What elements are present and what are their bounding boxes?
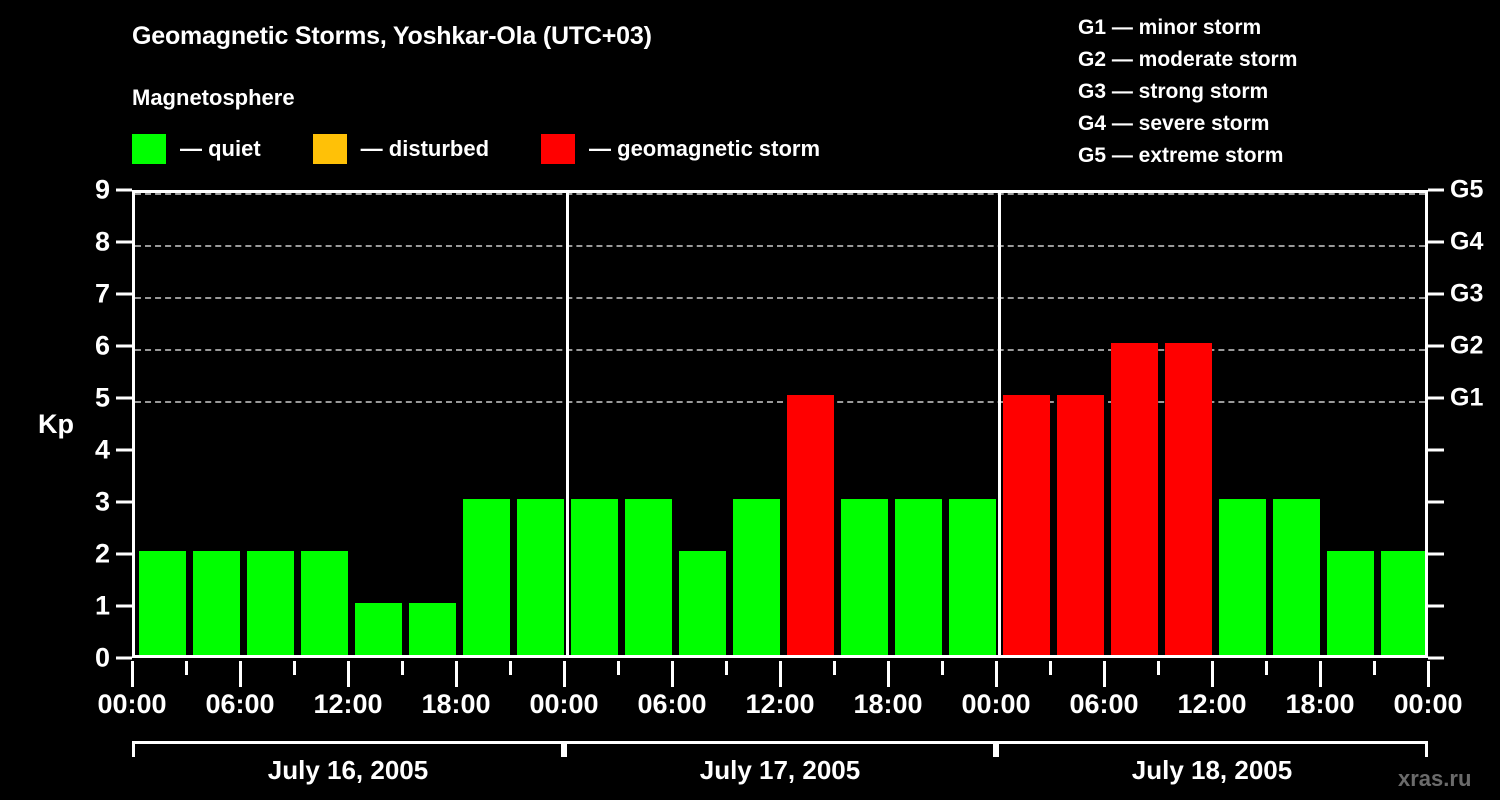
right-axis-tick bbox=[1428, 345, 1444, 348]
g-scale-line: G4 — severe storm bbox=[1078, 108, 1297, 140]
chart-subtitle: Magnetosphere bbox=[132, 85, 295, 111]
bar[interactable] bbox=[517, 499, 564, 655]
right-axis-tick bbox=[1428, 449, 1444, 452]
bar[interactable] bbox=[787, 395, 834, 655]
x-axis-minor-tick bbox=[1049, 661, 1052, 675]
x-axis-label: 00:00 bbox=[529, 689, 598, 720]
x-axis-label: 06:00 bbox=[1069, 689, 1138, 720]
y-axis-tick bbox=[116, 605, 132, 608]
x-axis-label: 00:00 bbox=[961, 689, 1030, 720]
bar[interactable] bbox=[1003, 395, 1050, 655]
y-axis-tick bbox=[116, 397, 132, 400]
right-axis-tick bbox=[1428, 293, 1444, 296]
x-axis-label: 06:00 bbox=[205, 689, 274, 720]
bar[interactable] bbox=[949, 499, 996, 655]
bar[interactable] bbox=[409, 603, 456, 655]
y-axis-tick-label: 3 bbox=[80, 487, 110, 518]
x-axis-label: 00:00 bbox=[1393, 689, 1462, 720]
y-axis-tick bbox=[116, 293, 132, 296]
x-axis-major-tick bbox=[563, 661, 566, 687]
y-axis-tick-label: 1 bbox=[80, 591, 110, 622]
bar[interactable] bbox=[139, 551, 186, 655]
y-axis-title: Kp bbox=[38, 409, 74, 440]
x-axis-minor-tick bbox=[617, 661, 620, 675]
legend-label-disturbed: — disturbed bbox=[361, 136, 489, 162]
x-axis-minor-tick bbox=[509, 661, 512, 675]
x-axis-minor-tick bbox=[185, 661, 188, 675]
date-label: July 18, 2005 bbox=[1132, 755, 1292, 786]
bar[interactable] bbox=[1111, 343, 1158, 655]
x-axis-major-tick bbox=[347, 661, 350, 687]
bar[interactable] bbox=[679, 551, 726, 655]
x-axis-major-tick bbox=[1103, 661, 1106, 687]
chart-root: Geomagnetic Storms, Yoshkar-Ola (UTC+03)… bbox=[0, 0, 1500, 800]
right-axis-tick bbox=[1428, 397, 1444, 400]
x-axis-minor-tick bbox=[1265, 661, 1268, 675]
legend-item-disturbed: — disturbed bbox=[313, 134, 489, 164]
plot-area bbox=[132, 190, 1428, 658]
bar[interactable] bbox=[1381, 551, 1426, 655]
y-axis-tick bbox=[116, 553, 132, 556]
x-axis-label: 12:00 bbox=[745, 689, 814, 720]
y-axis-tick bbox=[116, 449, 132, 452]
y-axis-tick bbox=[116, 189, 132, 192]
y-axis-tick-label: 0 bbox=[80, 643, 110, 674]
bar[interactable] bbox=[463, 499, 510, 655]
right-axis-tick bbox=[1428, 501, 1444, 504]
y-axis-tick-label: 2 bbox=[80, 539, 110, 570]
g-scale-line: G2 — moderate storm bbox=[1078, 44, 1297, 76]
y-axis-tick-label: 5 bbox=[80, 383, 110, 414]
bar[interactable] bbox=[355, 603, 402, 655]
bar[interactable] bbox=[895, 499, 942, 655]
x-axis-major-tick bbox=[1319, 661, 1322, 687]
legend-item-storm: — geomagnetic storm bbox=[541, 134, 820, 164]
x-axis-label: 12:00 bbox=[1177, 689, 1246, 720]
x-axis-major-tick bbox=[131, 661, 134, 687]
y-axis-tick-label: 8 bbox=[80, 227, 110, 258]
x-axis-label: 18:00 bbox=[421, 689, 490, 720]
y-axis-tick bbox=[116, 241, 132, 244]
g-scale-line: G3 — strong storm bbox=[1078, 76, 1297, 108]
legend-label-storm: — geomagnetic storm bbox=[589, 136, 820, 162]
x-axis-major-tick bbox=[887, 661, 890, 687]
bar[interactable] bbox=[247, 551, 294, 655]
watermark: xras.ru bbox=[1398, 766, 1471, 792]
x-axis-major-tick bbox=[671, 661, 674, 687]
bar[interactable] bbox=[1165, 343, 1212, 655]
g-axis-label: G3 bbox=[1450, 280, 1483, 309]
x-axis-major-tick bbox=[779, 661, 782, 687]
x-axis-label: 06:00 bbox=[637, 689, 706, 720]
right-axis-tick bbox=[1428, 605, 1444, 608]
x-axis-minor-tick bbox=[725, 661, 728, 675]
y-axis-tick-label: 9 bbox=[80, 175, 110, 206]
right-axis-tick bbox=[1428, 241, 1444, 244]
x-axis-label: 18:00 bbox=[853, 689, 922, 720]
page-title: Geomagnetic Storms, Yoshkar-Ola (UTC+03) bbox=[132, 22, 652, 51]
x-axis-minor-tick bbox=[401, 661, 404, 675]
y-axis-tick-label: 4 bbox=[80, 435, 110, 466]
right-axis-tick bbox=[1428, 189, 1444, 192]
disturbed-swatch bbox=[313, 134, 347, 164]
legend-label-quiet: — quiet bbox=[180, 136, 261, 162]
g-scale-line: G1 — minor storm bbox=[1078, 12, 1297, 44]
y-axis-tick bbox=[116, 501, 132, 504]
x-axis-major-tick bbox=[239, 661, 242, 687]
g-axis-label: G2 bbox=[1450, 332, 1483, 361]
x-axis-label: 12:00 bbox=[313, 689, 382, 720]
x-axis-minor-tick bbox=[293, 661, 296, 675]
date-label: July 17, 2005 bbox=[700, 755, 860, 786]
y-axis-tick bbox=[116, 657, 132, 660]
x-axis-label: 00:00 bbox=[97, 689, 166, 720]
bar[interactable] bbox=[625, 499, 672, 655]
g-scale-line: G5 — extreme storm bbox=[1078, 140, 1297, 172]
date-label: July 16, 2005 bbox=[268, 755, 428, 786]
y-axis-tick-label: 6 bbox=[80, 331, 110, 362]
g-scale-legend: G1 — minor storm G2 — moderate storm G3 … bbox=[1078, 12, 1297, 172]
storm-swatch bbox=[541, 134, 575, 164]
magnetosphere-legend: — quiet — disturbed — geomagnetic storm bbox=[132, 132, 820, 166]
bar[interactable] bbox=[1273, 499, 1320, 655]
x-axis-minor-tick bbox=[1157, 661, 1160, 675]
g-axis-label: G1 bbox=[1450, 384, 1483, 413]
bar[interactable] bbox=[1327, 551, 1374, 655]
x-axis-major-tick bbox=[455, 661, 458, 687]
quiet-swatch bbox=[132, 134, 166, 164]
y-axis-tick-label: 7 bbox=[80, 279, 110, 310]
legend-item-quiet: — quiet bbox=[132, 134, 261, 164]
x-axis-major-tick bbox=[995, 661, 998, 687]
right-axis-tick bbox=[1428, 553, 1444, 556]
y-axis-tick bbox=[116, 345, 132, 348]
x-axis-major-tick bbox=[1427, 661, 1430, 687]
bar[interactable] bbox=[733, 499, 780, 655]
plot-inner bbox=[135, 193, 1425, 655]
x-axis-label: 18:00 bbox=[1285, 689, 1354, 720]
bar[interactable] bbox=[193, 551, 240, 655]
g-axis-label: G4 bbox=[1450, 228, 1483, 257]
bar[interactable] bbox=[571, 499, 618, 655]
bar[interactable] bbox=[841, 499, 888, 655]
right-axis-tick bbox=[1428, 657, 1444, 660]
x-axis-major-tick bbox=[1211, 661, 1214, 687]
bar[interactable] bbox=[301, 551, 348, 655]
x-axis-minor-tick bbox=[833, 661, 836, 675]
x-axis-minor-tick bbox=[941, 661, 944, 675]
x-axis-minor-tick bbox=[1373, 661, 1376, 675]
bar-series bbox=[135, 193, 1425, 655]
bar[interactable] bbox=[1057, 395, 1104, 655]
bar[interactable] bbox=[1219, 499, 1266, 655]
g-axis-label: G5 bbox=[1450, 176, 1483, 205]
